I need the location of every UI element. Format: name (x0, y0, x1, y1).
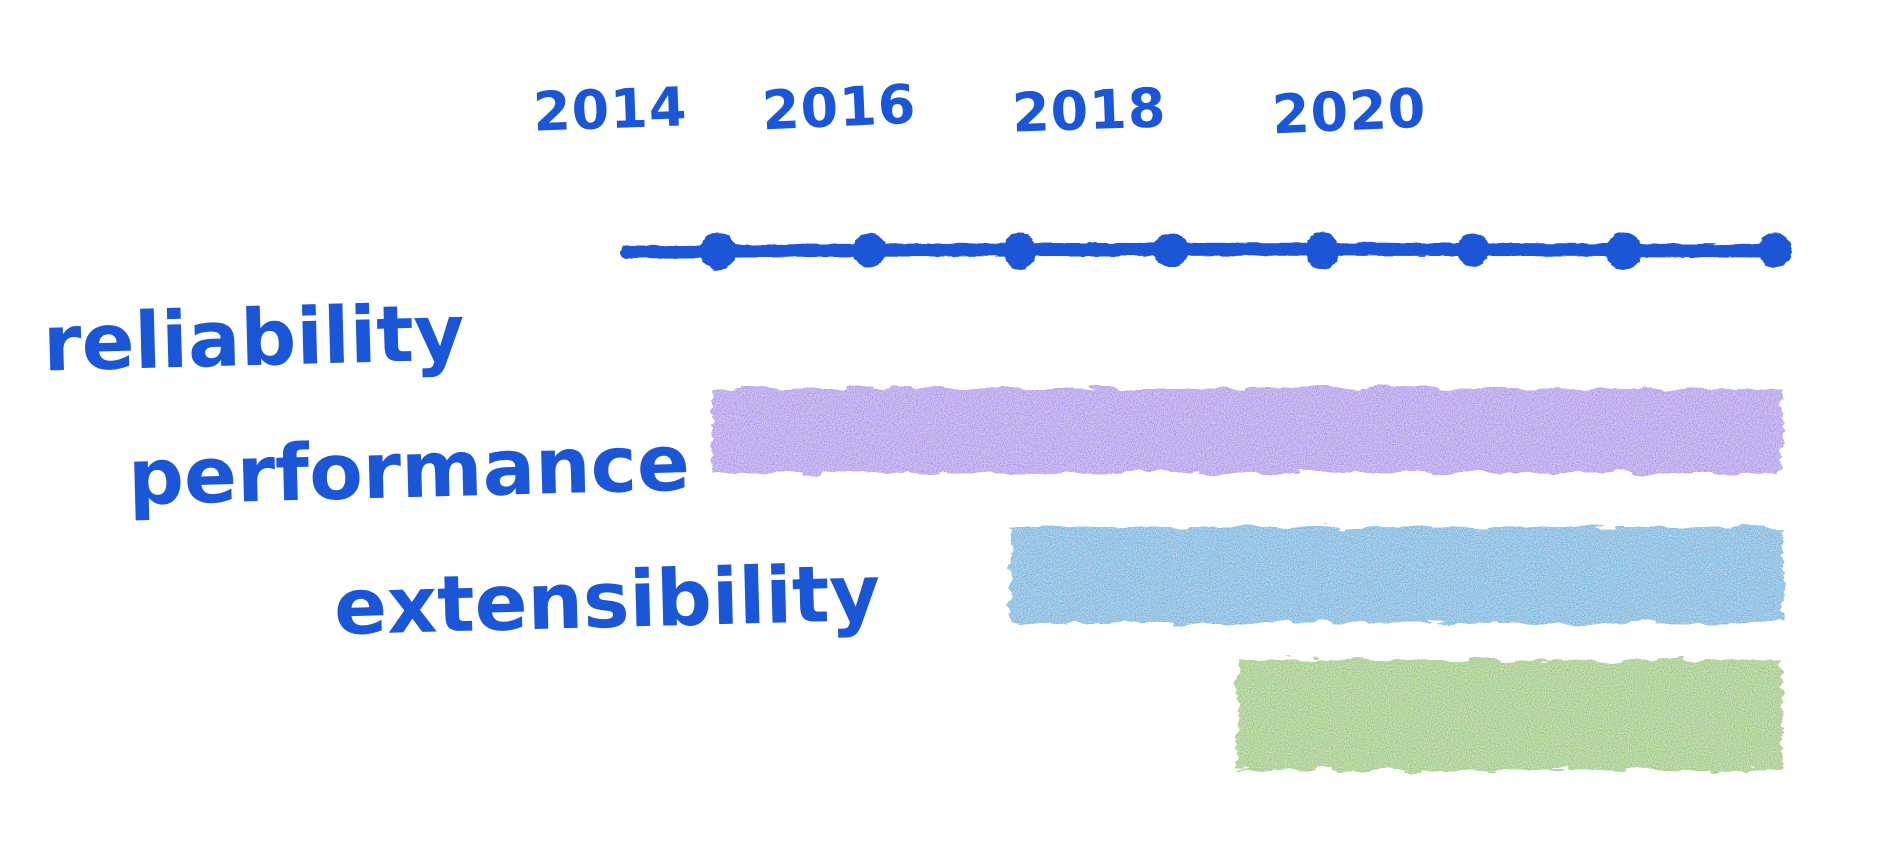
timeline-marker-dot[interactable] (1004, 232, 1036, 270)
bar-extensibility[interactable] (1238, 660, 1782, 770)
bar-performance[interactable] (1010, 527, 1782, 623)
timeline-marker-dot[interactable] (1153, 233, 1189, 267)
year-label-2014: 2014 (532, 75, 688, 143)
timeline-marker-dot[interactable] (852, 233, 886, 267)
timeline-chart: 2014 2016 2018 2020 reliability performa… (0, 0, 1900, 854)
row-label-extensibility-text: extensibility (333, 555, 881, 647)
timeline-marker-dot[interactable] (1457, 233, 1489, 267)
bar-fill (1010, 527, 1782, 623)
row-label-performance: performance (127, 425, 691, 518)
year-label-2020: 2020 (1271, 77, 1428, 147)
year-label-2018: 2018 (1011, 76, 1167, 144)
row-label-performance-text: performance (127, 425, 691, 518)
timeline-marker-dot[interactable] (1305, 232, 1339, 270)
bar-layer (0, 0, 1900, 854)
bar-reliability[interactable] (712, 388, 1782, 473)
timeline-marker-dot[interactable] (1606, 232, 1642, 270)
timeline-marker-dot[interactable] (700, 232, 736, 270)
timeline-axis-line (627, 249, 1782, 252)
bar-fill (712, 388, 1782, 473)
timeline-axis (0, 0, 1900, 854)
bar-fill (1238, 660, 1782, 770)
timeline-marker-dot[interactable] (1758, 233, 1792, 267)
row-label-extensibility: extensibility (333, 555, 881, 647)
row-label-reliability: reliability (42, 294, 466, 383)
year-label-2016: 2016 (761, 73, 918, 143)
row-label-reliability-text: reliability (42, 294, 466, 383)
